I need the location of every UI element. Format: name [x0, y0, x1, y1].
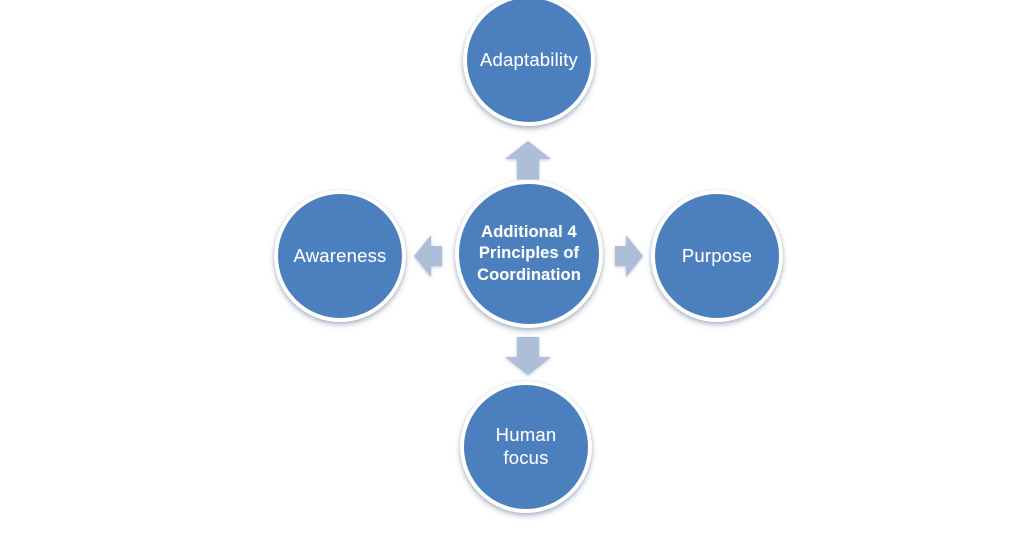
diagram-node-awareness[interactable]: Awareness — [274, 190, 406, 322]
diagram-canvas: Additional 4 Principles of Coordination … — [0, 0, 1024, 538]
arrow-down-icon — [505, 337, 551, 375]
arrow-right-icon — [615, 235, 643, 277]
diagram-node-center-label: Additional 4 Principles of Coordination — [477, 222, 581, 286]
diagram-node-center[interactable]: Additional 4 Principles of Coordination — [455, 180, 603, 328]
diagram-node-purpose[interactable]: Purpose — [651, 190, 783, 322]
diagram-node-adaptability[interactable]: Adaptability — [463, 0, 595, 126]
diagram-node-awareness-label: Awareness — [294, 245, 387, 268]
diagram-node-purpose-label: Purpose — [682, 245, 752, 268]
diagram-node-human-focus[interactable]: Human focus — [460, 381, 592, 513]
diagram-node-human-focus-label: Human focus — [496, 424, 557, 469]
arrow-up-icon — [505, 141, 551, 179]
arrow-left-icon — [414, 235, 442, 277]
diagram-node-adaptability-label: Adaptability — [480, 49, 578, 72]
